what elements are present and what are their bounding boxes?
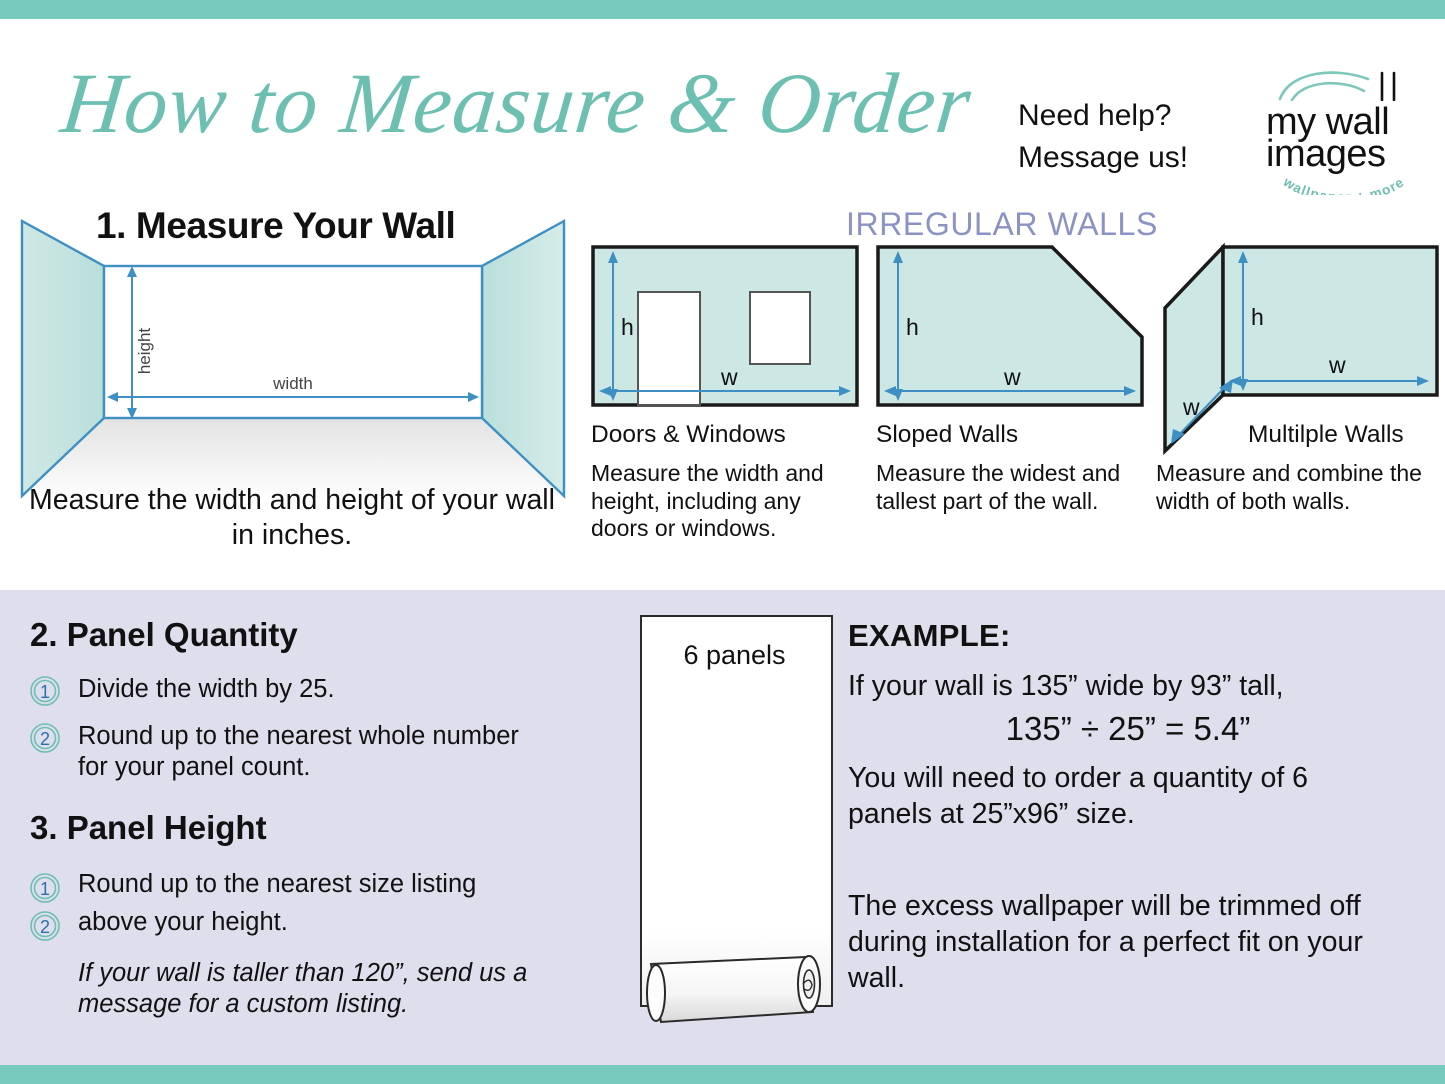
page-title: How to Measure & Order	[57, 55, 997, 151]
example-line1: If your wall is 135” wide by 93” tall,	[848, 668, 1284, 704]
bottom-accent-bar	[0, 1065, 1445, 1084]
example-equation: 135” ÷ 25” = 5.4”	[848, 710, 1408, 748]
bullet-4-icon: 2	[28, 909, 62, 943]
svg-text:1: 1	[40, 879, 50, 899]
svg-text:width: width	[272, 374, 313, 393]
step1-caption: Measure the width and height of your wal…	[16, 483, 568, 553]
svg-text:w: w	[1182, 394, 1200, 420]
svg-text:h: h	[621, 314, 634, 340]
card-body-doors-windows: Measure the width and height, including …	[591, 460, 859, 543]
card-title-sloped-walls: Sloped Walls	[876, 421, 1018, 449]
card-title-multiple-walls: Multilple Walls	[1248, 421, 1404, 449]
measure-section: 1. Measure Your Wall height	[0, 195, 1445, 590]
svg-text:w: w	[720, 364, 738, 390]
card-title-doors-windows: Doors & Windows	[591, 421, 786, 449]
step2-item-1-text: Divide the width by 25.	[78, 674, 508, 705]
step2-heading: 2. Panel Quantity	[30, 616, 298, 654]
svg-text:height: height	[135, 328, 154, 375]
svg-text:w: w	[1328, 352, 1346, 378]
irregular-card-doors-windows: h w Doors & Windows Measure the width an…	[591, 243, 859, 408]
card-body-multiple-walls: Measure and combine the width of both wa…	[1156, 460, 1432, 515]
svg-text:1: 1	[40, 682, 50, 702]
example-heading: EXAMPLE:	[848, 618, 1011, 654]
bullet-1-icon: 1	[28, 674, 62, 708]
step3-heading: 3. Panel Height	[30, 809, 267, 847]
brand-logo: my wall images wallpaper + more	[1258, 67, 1426, 212]
room-perspective-diagram: height width	[14, 211, 570, 501]
svg-text:2: 2	[40, 729, 50, 749]
example-line2: You will need to order a quantity of 6 p…	[848, 760, 1378, 832]
roll-shape	[637, 612, 852, 1037]
need-help-block: Need help? Message us!	[1018, 95, 1248, 179]
page-header: How to Measure & Order Need help? Messag…	[0, 19, 1445, 195]
example-line3: The excess wallpaper will be trimmed off…	[848, 888, 1388, 996]
svg-text:2: 2	[40, 917, 50, 937]
doors-windows-diagram: h w	[591, 243, 859, 408]
roll-label: 6 panels	[637, 640, 832, 671]
bullet-2-icon: 2	[28, 721, 62, 755]
sloped-wall-diagram: h w	[876, 243, 1144, 408]
step2-item-2-text: Round up to the nearest whole number for…	[78, 721, 528, 783]
irregular-card-multiple-walls: h w w Multilple Walls Measure and combin…	[1161, 243, 1441, 458]
irregular-walls-heading: IRREGULAR WALLS	[846, 206, 1158, 243]
top-accent-bar	[0, 0, 1445, 19]
need-help-line1: Need help?	[1018, 95, 1248, 137]
irregular-card-sloped-walls: h w Sloped Walls Measure the widest and …	[876, 243, 1144, 408]
need-help-line2: Message us!	[1018, 137, 1248, 179]
order-section: 2. Panel Quantity 1 Divide the width by …	[0, 590, 1445, 1065]
bullet-3-icon: 1	[28, 871, 62, 905]
step3-note: If your wall is taller than 120”, send u…	[78, 958, 538, 1020]
svg-text:h: h	[906, 314, 919, 340]
wallpaper-roll-illustration: 6 panels	[637, 612, 852, 1037]
step3-item-2-text: above your height.	[78, 907, 548, 938]
card-body-sloped-walls: Measure the widest and tallest part of t…	[876, 460, 1138, 515]
svg-text:h: h	[1251, 304, 1264, 330]
svg-text:w: w	[1003, 364, 1021, 390]
logo-arcs-icon	[1276, 67, 1408, 101]
step3-item-1-text: Round up to the nearest size listing	[78, 869, 548, 900]
